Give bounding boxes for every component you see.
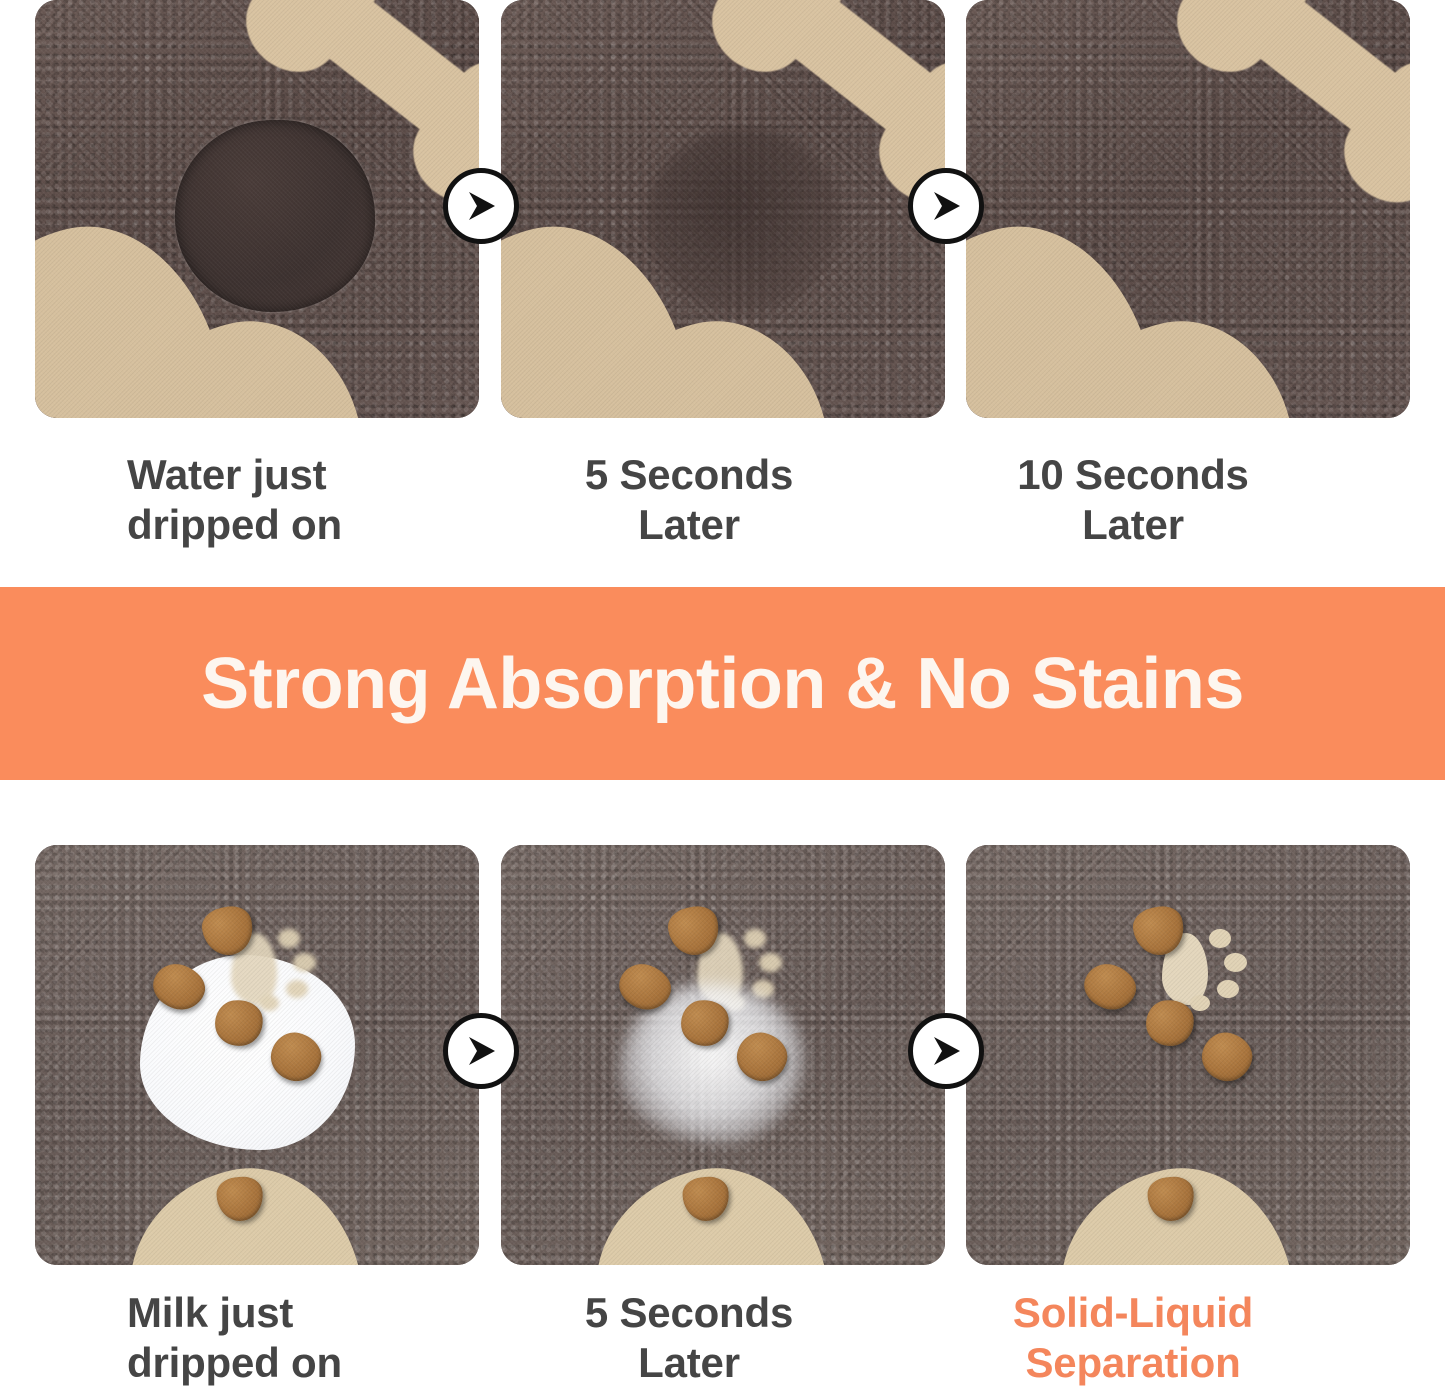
caption-water-5-seconds: 5 Seconds Later: [479, 450, 923, 551]
photo-panel-water-10-seconds: [966, 0, 1410, 418]
headline-text: Strong Absorption & No Stains: [201, 643, 1244, 725]
water-test-photo-row: [0, 0, 1445, 418]
milk-test-caption-row: Milk just dripped on 5 Seconds Later Sol…: [0, 1288, 1445, 1389]
arrow-right-icon: [443, 168, 519, 244]
photo-panel-milk-separated: [966, 845, 1410, 1265]
infographic-page: Water just dripped on 5 Seconds Later 10…: [0, 0, 1445, 1394]
caption-water-10-seconds: 10 Seconds Later: [923, 450, 1367, 551]
arrow-right-icon: [908, 168, 984, 244]
photo-panel-milk-5-seconds: [501, 845, 945, 1265]
water-puddle-wet: [175, 120, 375, 312]
water-test-caption-row: Water just dripped on 5 Seconds Later 10…: [0, 450, 1445, 551]
arrow-right-icon: [443, 1013, 519, 1089]
caption-milk-5-seconds: 5 Seconds Later: [479, 1288, 923, 1389]
photo-panel-water-5-seconds: [501, 0, 945, 418]
photo-panel-milk-just-dripped: [35, 845, 479, 1265]
photo-panel-water-just-dripped: [35, 0, 479, 418]
caption-solid-liquid-separation: Solid-Liquid Separation: [923, 1288, 1367, 1389]
caption-water-just-dripped: Water just dripped on: [35, 450, 479, 551]
milk-test-photo-row: [0, 845, 1445, 1265]
headline-banner: Strong Absorption & No Stains: [0, 587, 1445, 780]
caption-milk-just-dripped: Milk just dripped on: [35, 1288, 479, 1389]
arrow-right-icon: [908, 1013, 984, 1089]
water-patch-damp: [646, 128, 841, 313]
